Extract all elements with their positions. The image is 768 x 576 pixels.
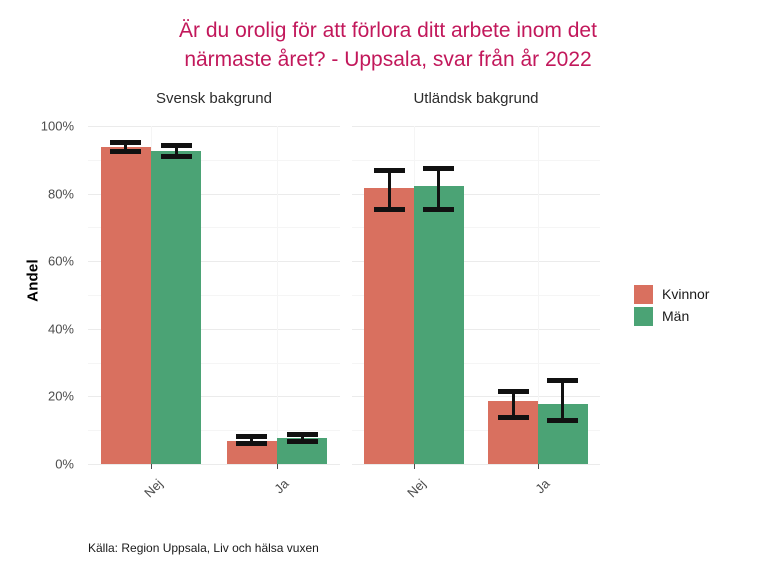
bar — [151, 151, 201, 464]
error-bar-cap-upper — [374, 168, 405, 173]
gridline-major — [352, 464, 600, 465]
legend-swatch — [634, 307, 653, 326]
error-bar-cap-upper — [547, 378, 578, 383]
error-bar-cap-upper — [287, 432, 318, 437]
error-bar — [287, 432, 318, 445]
panel-utlandsk-bakgrund — [352, 126, 600, 464]
legend-item-män[interactable]: Män — [634, 305, 709, 327]
y-tick-label: 40% — [22, 321, 74, 336]
error-bar — [547, 378, 578, 423]
error-bar — [423, 166, 454, 212]
bar — [101, 147, 151, 464]
x-tick-label: Nej — [387, 476, 429, 518]
error-bar — [110, 140, 141, 155]
x-tick-label: Nej — [124, 476, 166, 518]
error-bar-cap-upper — [161, 143, 192, 148]
chart-caption: Källa: Region Uppsala, Liv och hälsa vux… — [88, 541, 319, 555]
y-tick-label: 100% — [22, 119, 74, 134]
error-bar-cap-upper — [236, 434, 267, 439]
facet-strip-utlandsk-bakgrund: Utländsk bakgrund — [352, 88, 600, 110]
error-bar-cap-lower — [423, 207, 454, 212]
error-bar-cap-lower — [236, 441, 267, 446]
error-bar-line — [388, 168, 391, 212]
x-tick-label: Ja — [511, 476, 553, 518]
facet-strip-svensk-bakgrund: Svensk bakgrund — [88, 88, 340, 110]
error-bar-cap-upper — [110, 140, 141, 145]
page-title: Är du orolig för att förlora ditt arbete… — [60, 16, 716, 74]
error-bar — [161, 143, 192, 159]
error-bar-cap-lower — [498, 415, 529, 420]
error-bar-line — [437, 166, 440, 212]
gridline-major — [88, 126, 340, 127]
y-tick-label: 0% — [22, 457, 74, 472]
y-tick-label: 80% — [22, 186, 74, 201]
gridline-minor — [352, 160, 600, 161]
legend: KvinnorMän — [634, 283, 709, 327]
y-axis-labels: 0%20%40%60%80%100% — [22, 0, 74, 576]
y-tick-label: 60% — [22, 254, 74, 269]
panel-svensk-bakgrund — [88, 126, 340, 464]
bar — [414, 186, 464, 464]
x-tick-mark — [151, 464, 152, 469]
chart-page: Är du orolig för att förlora ditt arbete… — [0, 0, 768, 576]
gridline-major — [352, 126, 600, 127]
error-bar — [236, 434, 267, 446]
y-tick-label: 20% — [22, 389, 74, 404]
error-bar — [498, 389, 529, 420]
error-bar — [374, 168, 405, 212]
x-tick-mark — [538, 464, 539, 469]
error-bar-cap-lower — [374, 207, 405, 212]
x-tick-mark — [277, 464, 278, 469]
error-bar-cap-lower — [287, 439, 318, 444]
error-bar-cap-lower — [161, 154, 192, 159]
legend-item-kvinnor[interactable]: Kvinnor — [634, 283, 709, 305]
error-bar-cap-upper — [423, 166, 454, 171]
bar — [364, 188, 414, 464]
error-bar-line — [561, 378, 564, 423]
error-bar-cap-lower — [547, 418, 578, 423]
error-bar-cap-upper — [498, 389, 529, 394]
x-tick-label: Ja — [250, 476, 292, 518]
error-bar-cap-lower — [110, 149, 141, 154]
legend-label: Kvinnor — [662, 286, 709, 302]
gridline-vertical — [277, 126, 278, 464]
legend-label: Män — [662, 308, 689, 324]
x-tick-mark — [414, 464, 415, 469]
gridline-major — [88, 464, 340, 465]
legend-swatch — [634, 285, 653, 304]
